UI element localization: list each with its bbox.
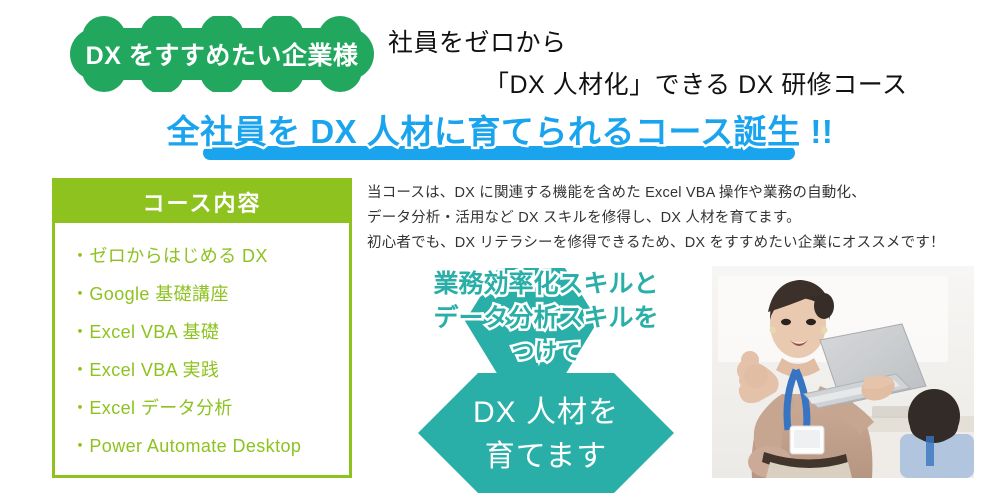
list-item: ・Power Automate Desktop <box>71 427 349 465</box>
poster-canvas: DX をすすめたい企業様 社員をゼロから 「DX 人材化」できる DX 研修コー… <box>0 0 1000 500</box>
hero-photo <box>712 266 974 478</box>
headline-line-1: 社員をゼロから <box>388 26 988 60</box>
description-line-3: 初心者でも、DX リテラシーを修得できるため、DX をすすめたい企業にオススメで… <box>367 231 999 256</box>
list-item: ・Excel データ分析 <box>71 389 349 427</box>
hexagon-callout: 業務効率化スキルと データ分析スキルを つけて DX 人材を 育てます <box>398 255 694 500</box>
headline-line-2: 「DX 人材化」できる DX 研修コース <box>388 68 988 102</box>
hexagon-bottom-line-2: 育てます <box>398 435 694 479</box>
hexagon-bottom-text: DX 人材を 育てます <box>398 391 694 479</box>
office-woman-photo <box>712 266 974 478</box>
banner-text: 全社員を DX 人材に育てられるコース誕生 !! <box>0 110 1000 154</box>
hexagon-top-line-2: データ分析スキルを <box>398 301 694 335</box>
list-item: ・Google 基礎講座 <box>71 275 349 313</box>
list-item: ・Excel VBA 基礎 <box>71 313 349 351</box>
description-line-1: 当コースは、DX に関連する機能を含めた Excel VBA 操作や業務の自動化… <box>367 181 999 206</box>
banner: 全社員を DX 人材に育てられるコース誕生 !! <box>0 110 1000 162</box>
list-item: ・ゼロからはじめる DX <box>71 237 349 275</box>
hexagon-top-line-3: つけて <box>398 335 694 367</box>
description-paragraph: 当コースは、DX に関連する機能を含めた Excel VBA 操作や業務の自動化… <box>367 181 999 256</box>
description-line-2: データ分析・活用など DX スキルを修得し、DX 人材を育てます。 <box>367 206 999 231</box>
hexagon-top-text: 業務効率化スキルと データ分析スキルを つけて <box>398 267 694 367</box>
audience-badge: DX をすすめたい企業様 <box>52 16 392 92</box>
hexagon-top-line-1: 業務効率化スキルと <box>398 267 694 301</box>
hexagon-bottom-line-1: DX 人材を <box>398 391 694 435</box>
headline: 社員をゼロから 「DX 人材化」できる DX 研修コース <box>388 26 988 102</box>
audience-badge-label: DX をすすめたい企業様 <box>52 16 392 92</box>
course-content-header: コース内容 <box>55 181 349 223</box>
course-content-box: コース内容 ・ゼロからはじめる DX ・Google 基礎講座 ・Excel V… <box>52 178 352 478</box>
course-content-list: ・ゼロからはじめる DX ・Google 基礎講座 ・Excel VBA 基礎 … <box>55 223 349 465</box>
list-item: ・Excel VBA 実践 <box>71 351 349 389</box>
